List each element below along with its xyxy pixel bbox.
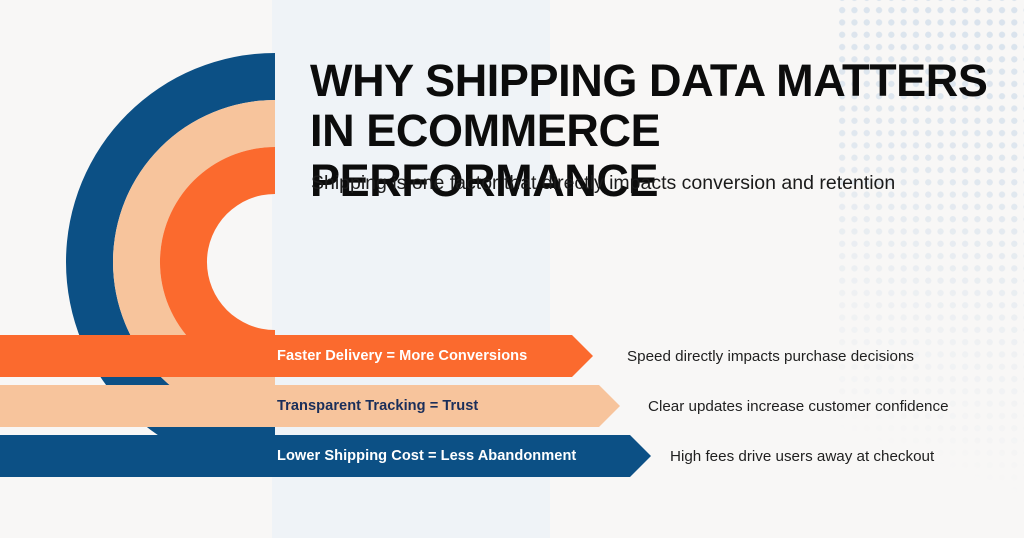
- infographic-canvas: WHY SHIPPING DATA MATTERS IN ECOMMERCE P…: [0, 0, 1024, 538]
- benefit-label-transparent-tracking: Transparent Tracking = Trust: [277, 398, 478, 414]
- benefit-description-faster-delivery: Speed directly impacts purchase decision…: [627, 335, 914, 377]
- benefit-label-faster-delivery: Faster Delivery = More Conversions: [277, 348, 527, 364]
- benefit-description-transparent-tracking: Clear updates increase customer confiden…: [648, 385, 949, 427]
- benefit-description-lower-shipping-cost: High fees drive users away at checkout: [670, 435, 934, 477]
- benefit-label-lower-shipping-cost: Lower Shipping Cost = Less Abandonment: [277, 448, 576, 464]
- benefit-rows: Faster Delivery = More Conversions Speed…: [0, 0, 1024, 538]
